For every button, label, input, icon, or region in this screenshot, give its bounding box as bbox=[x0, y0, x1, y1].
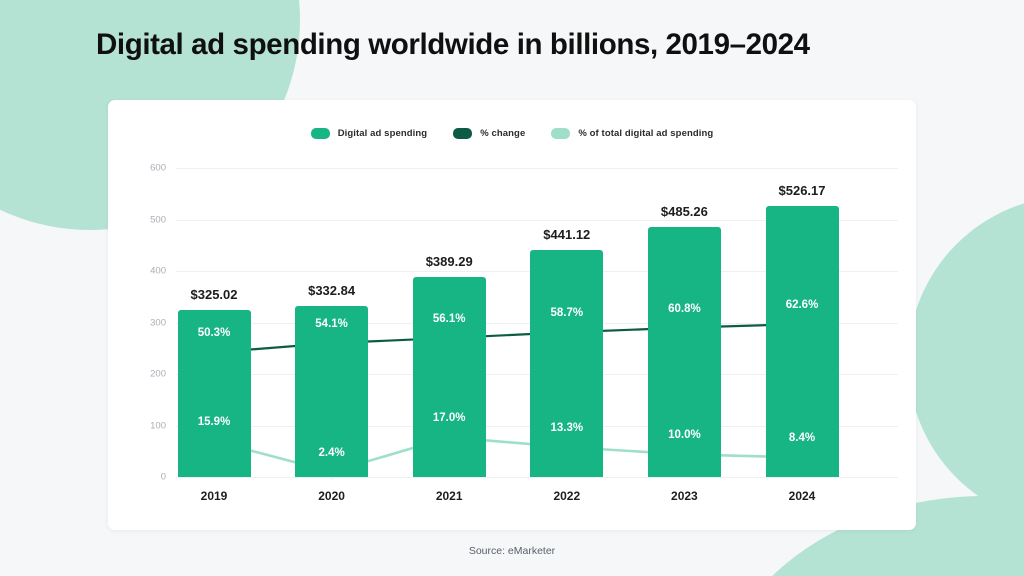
point-label-percent-change-2021: 56.1% bbox=[433, 313, 466, 325]
point-label-percent-of-total-2021: 17.0% bbox=[433, 412, 466, 424]
y-axis-tick-600: 600 bbox=[122, 163, 166, 174]
y-axis-tick-100: 100 bbox=[122, 420, 166, 431]
point-label-percent-change-2023: 60.8% bbox=[668, 303, 701, 315]
y-axis-tick-500: 500 bbox=[122, 214, 166, 225]
x-axis-tick-2024: 2024 bbox=[789, 489, 816, 503]
point-label-percent-change-2020: 54.1% bbox=[315, 318, 348, 330]
chart-card: Digital ad spending% change% of total di… bbox=[108, 100, 916, 530]
point-label-percent-of-total-2023: 10.0% bbox=[668, 429, 701, 441]
point-label-percent-of-total-2020: 2.4% bbox=[318, 447, 344, 459]
chart-plot-area: 0100200300400500600$325.02$332.84$389.29… bbox=[108, 100, 916, 530]
bar-value-label-2023: $485.26 bbox=[661, 204, 708, 219]
point-label-percent-change-2024: 62.6% bbox=[786, 299, 819, 311]
point-label-percent-change-2022: 58.7% bbox=[550, 307, 583, 319]
bar-value-label-2024: $526.17 bbox=[779, 183, 826, 198]
bar-value-label-2019: $325.02 bbox=[191, 287, 238, 302]
gridline-0 bbox=[176, 477, 898, 478]
point-label-percent-of-total-2019: 15.9% bbox=[198, 416, 231, 428]
y-axis-tick-200: 200 bbox=[122, 369, 166, 380]
point-label-percent-of-total-2024: 8.4% bbox=[789, 432, 815, 444]
gridline-600 bbox=[176, 168, 898, 169]
bar-value-label-2022: $441.12 bbox=[543, 227, 590, 242]
decorative-blob-right bbox=[908, 196, 1024, 526]
x-axis-tick-2023: 2023 bbox=[671, 489, 698, 503]
x-axis-tick-2021: 2021 bbox=[436, 489, 463, 503]
page-title: Digital ad spending worldwide in billion… bbox=[96, 28, 810, 62]
bar-2022[interactable] bbox=[530, 250, 603, 477]
x-axis-tick-2020: 2020 bbox=[318, 489, 345, 503]
bar-value-label-2020: $332.84 bbox=[308, 283, 355, 298]
point-label-percent-change-2019: 50.3% bbox=[198, 327, 231, 339]
bar-2021[interactable] bbox=[413, 277, 486, 477]
y-axis-tick-400: 400 bbox=[122, 266, 166, 277]
y-axis-tick-0: 0 bbox=[122, 472, 166, 483]
source-note: Source: eMarketer bbox=[0, 545, 1024, 557]
x-axis-tick-2019: 2019 bbox=[201, 489, 228, 503]
y-axis-tick-300: 300 bbox=[122, 317, 166, 328]
bar-value-label-2021: $389.29 bbox=[426, 254, 473, 269]
x-axis-tick-2022: 2022 bbox=[553, 489, 580, 503]
point-label-percent-of-total-2022: 13.3% bbox=[550, 422, 583, 434]
